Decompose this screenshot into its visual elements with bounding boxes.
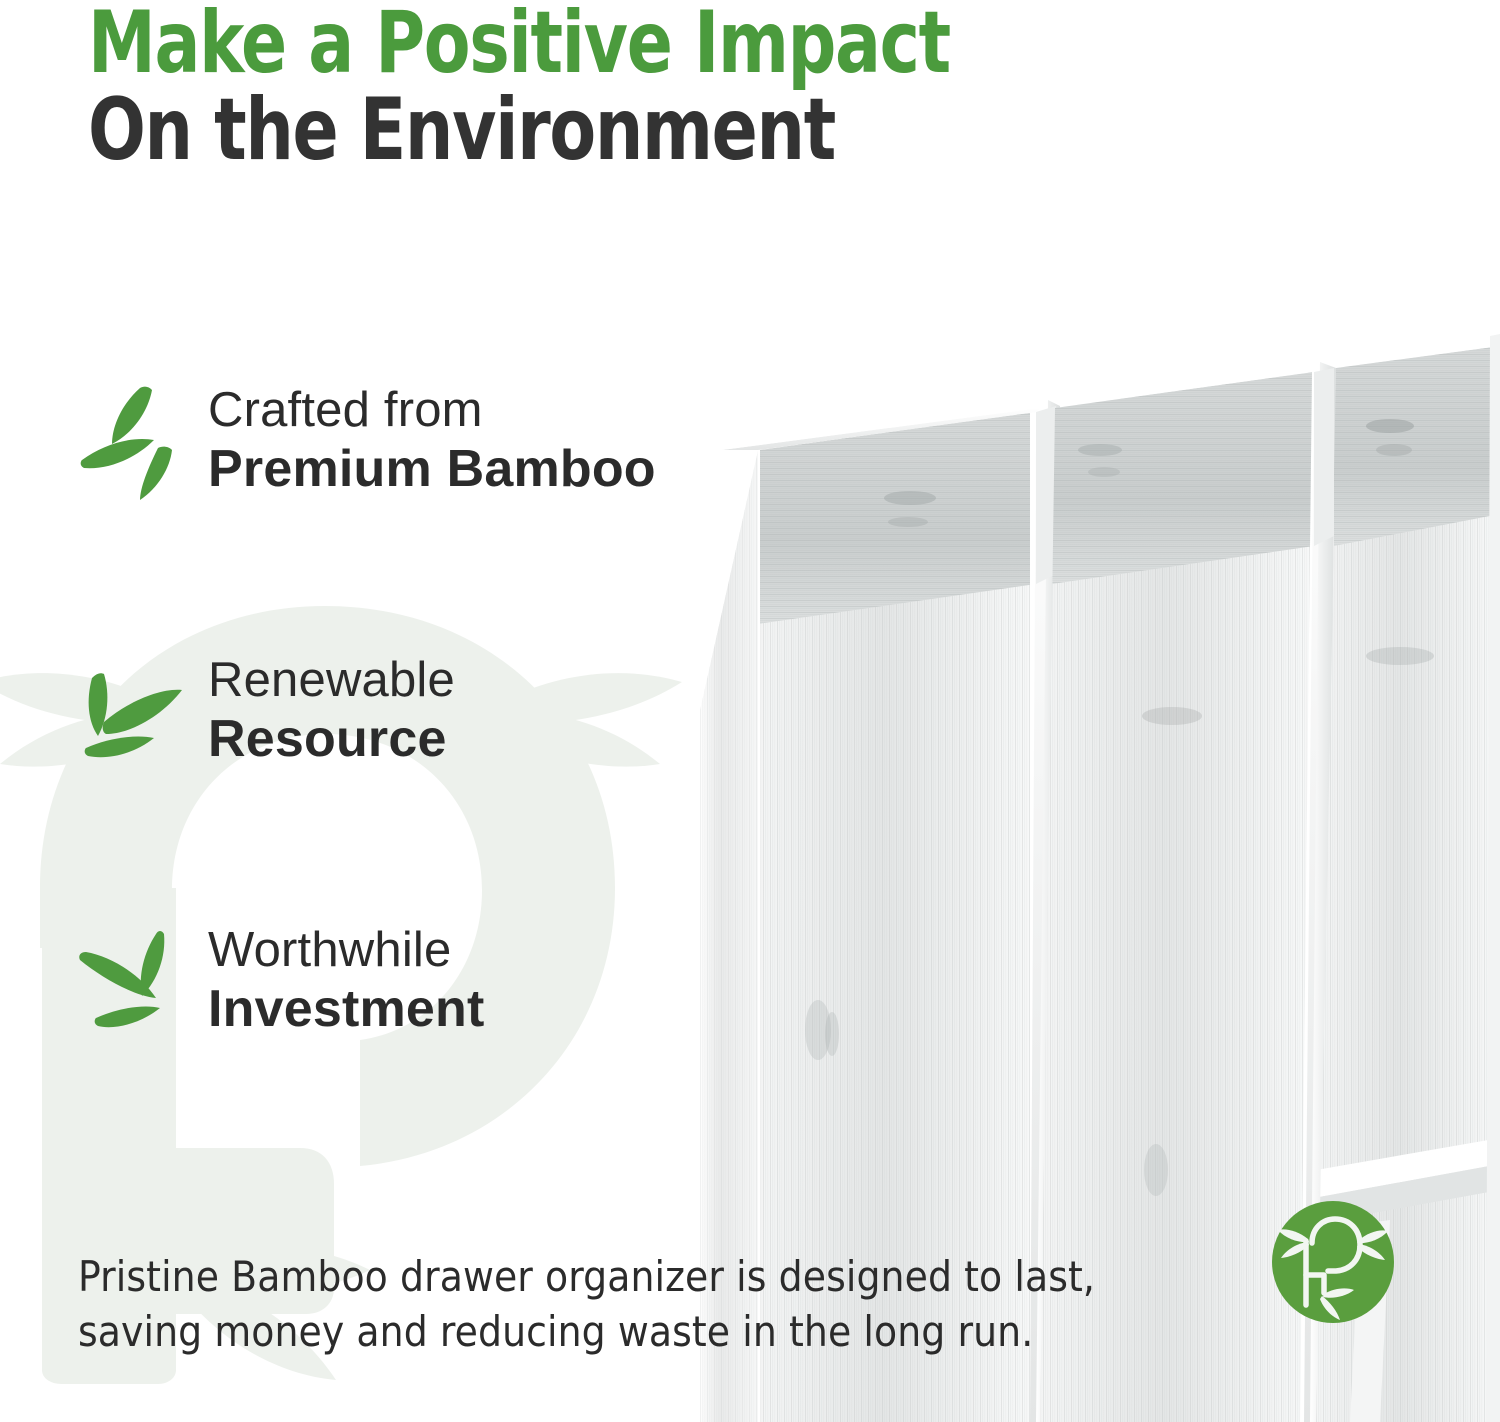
feature-bold-line: Premium Bamboo (208, 440, 656, 498)
bamboo-leaf-icon (78, 922, 186, 1040)
bamboo-leaf-icon (78, 382, 186, 500)
feature-renewable-resource: Renewable Resource (78, 652, 455, 770)
headline-line-2: On the Environment (88, 91, 950, 170)
footer-line-1: Pristine Bamboo drawer organizer is desi… (78, 1250, 1078, 1305)
bamboo-leaf-icon (78, 652, 186, 770)
feature-worthwhile-investment: Worthwhile Investment (78, 922, 485, 1040)
footer-line-2: saving money and reducing waste in the l… (78, 1305, 1078, 1360)
feature-light-line: Worthwhile (208, 923, 451, 977)
brand-logo-badge (1272, 1201, 1394, 1323)
footer-description: Pristine Bamboo drawer organizer is desi… (78, 1250, 1078, 1359)
feature-bold-line: Investment (208, 980, 485, 1038)
feature-crafted-from-premium-bamboo: Crafted from Premium Bamboo (78, 382, 656, 500)
feature-bold-line: Resource (208, 710, 447, 768)
headline-line-1: Make a Positive Impact (88, 4, 950, 83)
feature-light-line: Crafted from (208, 383, 483, 437)
feature-light-line: Renewable (208, 653, 455, 707)
page-headline: Make a Positive Impact On the Environmen… (88, 4, 1067, 170)
